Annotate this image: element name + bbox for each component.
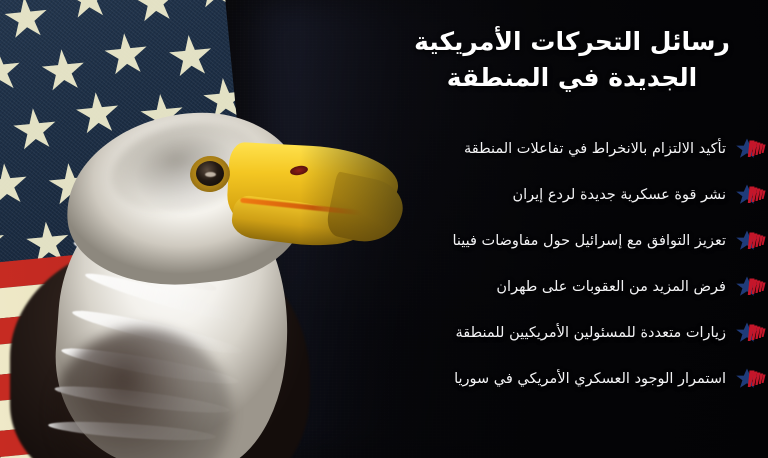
list-item-label: فرض المزيد من العقوبات على طهران	[376, 278, 726, 296]
star-stripes-icon	[734, 367, 768, 391]
star-stripes-icon	[734, 229, 768, 253]
star-stripes-icon	[734, 321, 768, 345]
star-stripes-icon	[734, 275, 768, 299]
content-panel: رسائل التحركات الأمريكية الجديدة في المن…	[368, 0, 768, 458]
star-stripes-icon	[734, 137, 768, 161]
eagle-eye-glint	[205, 172, 216, 177]
list-item: تأكيد الالتزام بالانخراط في تفاعلات المن…	[368, 126, 768, 172]
star-stripes-icon	[734, 183, 768, 207]
list-item: فرض المزيد من العقوبات على طهران	[368, 264, 768, 310]
list-item: زيارات متعددة للمسئولين الأمريكيين للمنط…	[368, 310, 768, 356]
infographic-poster: رسائل التحركات الأمريكية الجديدة في المن…	[0, 0, 768, 458]
list-item: استمرار الوجود العسكري الأمريكي في سوريا	[368, 356, 768, 402]
list-item-label: زيارات متعددة للمسئولين الأمريكيين للمنط…	[376, 324, 726, 342]
list-item: تعزيز التوافق مع إسرائيل حول مفاوضات فيي…	[368, 218, 768, 264]
list-item-label: تأكيد الالتزام بالانخراط في تفاعلات المن…	[376, 140, 726, 158]
list-item-label: استمرار الوجود العسكري الأمريكي في سوريا	[376, 370, 726, 388]
title-line-1: رسائل التحركات الأمريكية	[386, 24, 758, 60]
title-line-2: الجديدة في المنطقة	[386, 60, 758, 96]
list-item-label: تعزيز التوافق مع إسرائيل حول مفاوضات فيي…	[376, 232, 726, 250]
list-item: نشر قوة عسكرية جديدة لردع إيران	[368, 172, 768, 218]
list-item-label: نشر قوة عسكرية جديدة لردع إيران	[376, 186, 726, 204]
bullet-list: تأكيد الالتزام بالانخراط في تفاعلات المن…	[368, 126, 768, 402]
page-title: رسائل التحركات الأمريكية الجديدة في المن…	[386, 24, 758, 95]
